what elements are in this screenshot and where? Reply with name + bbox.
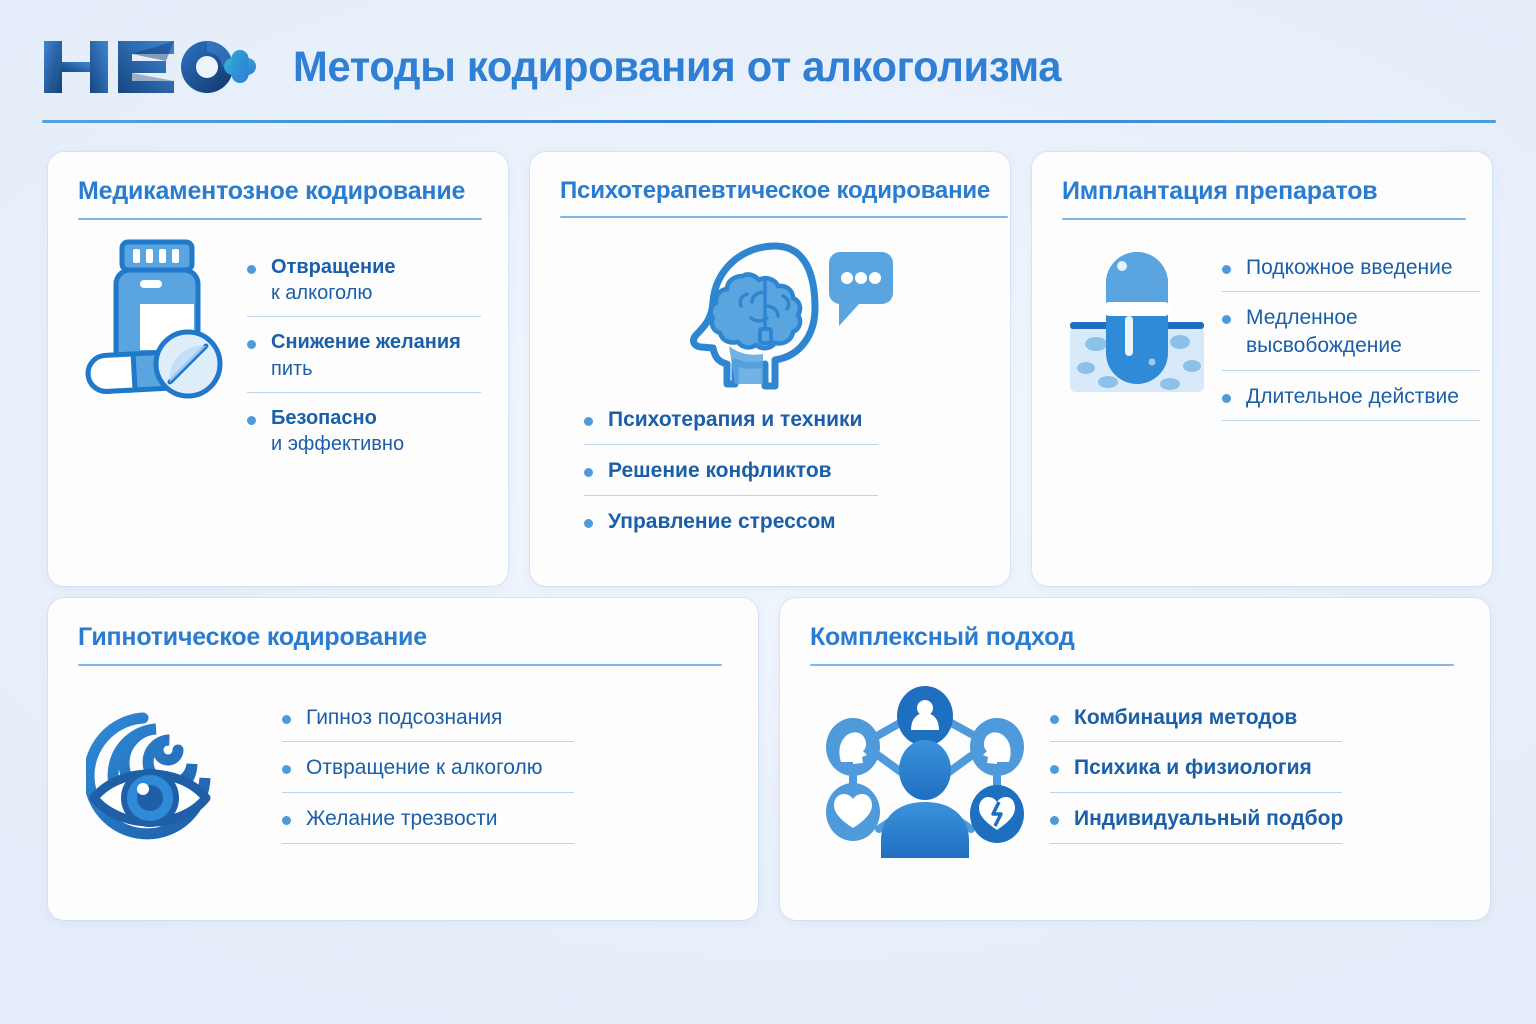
- page-header: Методы кодирования от алкоголизма: [42, 28, 1496, 128]
- bullet-divider: [1050, 792, 1342, 793]
- bullet-divider: [584, 444, 878, 445]
- bullet-item: Снижение желания пить: [247, 329, 482, 382]
- bullet-list: Подкожное введение Медленное высвобожден…: [1222, 254, 1480, 422]
- bullet-line-1: Медленное: [1246, 304, 1480, 332]
- neo-plus-logo: [42, 37, 257, 97]
- bullet-line-1: Отвращение: [271, 254, 482, 280]
- card-title: Комплексный подход: [810, 624, 1464, 652]
- bullet-item: Гипноз подсознания: [282, 704, 732, 732]
- bullet-divider: [584, 495, 878, 496]
- cards-row-bottom: Гипнотическое кодирование: [48, 598, 1490, 920]
- bullet-item: Индивидуальный подбор: [1050, 805, 1464, 833]
- bullet-line-1: Безопасно: [271, 405, 482, 431]
- bullet-item: Длительное действие: [1222, 383, 1480, 411]
- pill-bottle-icon: [78, 236, 233, 458]
- card-implantaciya[interactable]: Имплантация препаратов: [1032, 152, 1492, 586]
- bullet-item: Управление стрессом: [584, 508, 984, 536]
- card-title-divider: [1062, 218, 1466, 220]
- bullet-dot-icon: [584, 468, 593, 477]
- bullet-divider: [1050, 843, 1342, 844]
- bullet-item: Решение конфликтов: [584, 457, 984, 485]
- card-title: Медикаментозное кодирование: [78, 178, 482, 206]
- bullet-line-2: к алкоголю: [271, 280, 482, 306]
- bullet-item: Безопасно и эффективно: [247, 405, 482, 458]
- infographic-page: Методы кодирования от алкоголизма Медика…: [0, 0, 1536, 1024]
- bullet-divider: [282, 843, 574, 844]
- bullet-dot-icon: [1222, 315, 1231, 324]
- bullet-line-1: Длительное действие: [1246, 383, 1480, 411]
- bullet-dot-icon: [1050, 765, 1059, 774]
- bullet-line-1: Гипноз подсознания: [306, 704, 732, 732]
- bullet-line-1: Комбинация методов: [1074, 704, 1464, 732]
- bullet-item: Комбинация методов: [1050, 704, 1464, 732]
- bullet-dot-icon: [584, 519, 593, 528]
- bullet-line-1: Отвращение к алкоголю: [306, 754, 732, 782]
- card-title-divider: [810, 664, 1454, 666]
- bullet-line-2: высвобождение: [1246, 332, 1480, 360]
- bullet-line-1: Управление стрессом: [608, 508, 984, 536]
- head-brain-speech-icon: [647, 234, 897, 394]
- people-network-icon: [810, 682, 1040, 859]
- card-kompleksnyy[interactable]: Комплексный подход: [780, 598, 1490, 920]
- bullet-dot-icon: [1222, 265, 1231, 274]
- bullet-item: Психика и физиология: [1050, 754, 1464, 782]
- bullet-line-1: Психика и физиология: [1074, 754, 1464, 782]
- bullet-item: Психотерапия и техники: [584, 406, 984, 434]
- bullet-line-1: Психотерапия и техники: [608, 406, 984, 434]
- bullet-line-1: Индивидуальный подбор: [1074, 805, 1464, 833]
- card-medikamentoznoe[interactable]: Медикаментозное кодирование: [48, 152, 508, 586]
- page-title: Методы кодирования от алкоголизма: [293, 43, 1061, 92]
- bullet-list: Гипноз подсознания Отвращение к алкоголю…: [282, 704, 732, 853]
- capsule-implant-icon: [1062, 236, 1212, 422]
- card-gipnoticheskoe[interactable]: Гипнотическое кодирование: [48, 598, 758, 920]
- bullet-item: Медленное высвобождение: [1222, 304, 1480, 359]
- bullet-line-1: Подкожное введение: [1246, 254, 1480, 282]
- bullet-dot-icon: [1050, 715, 1059, 724]
- card-title: Имплантация препаратов: [1062, 178, 1466, 206]
- bullet-divider: [282, 741, 574, 742]
- bullet-dot-icon: [584, 417, 593, 426]
- hypnosis-eye-spiral-icon: [78, 682, 268, 853]
- bullet-divider: [1222, 370, 1480, 371]
- card-title: Гипнотическое кодирование: [78, 624, 732, 652]
- bullet-dot-icon: [282, 715, 291, 724]
- card-title-divider: [560, 216, 1008, 218]
- bullet-dot-icon: [1050, 816, 1059, 825]
- bullet-divider: [1222, 420, 1480, 421]
- bullet-item: Подкожное введение: [1222, 254, 1480, 282]
- header-divider: [42, 120, 1496, 123]
- bullet-line-1: Решение конфликтов: [608, 457, 984, 485]
- bullet-item: Отвращение к алкоголю: [247, 254, 482, 307]
- bullet-divider: [247, 316, 481, 317]
- bullet-divider: [247, 392, 481, 393]
- bullet-dot-icon: [247, 340, 256, 349]
- bullet-list: Психотерапия и техники Решение конфликто…: [560, 406, 984, 535]
- bullet-divider: [282, 792, 574, 793]
- card-psihoterapevticheskoe[interactable]: Психотерапевтическое кодирование: [530, 152, 1010, 586]
- bullet-list: Отвращение к алкоголю Снижение желания п…: [247, 254, 482, 458]
- bullet-dot-icon: [282, 816, 291, 825]
- bullet-dot-icon: [282, 765, 291, 774]
- bullet-dot-icon: [1222, 394, 1231, 403]
- card-title-divider: [78, 218, 482, 220]
- bullet-line-1: Снижение желания: [271, 329, 482, 355]
- bullet-dot-icon: [247, 416, 256, 425]
- bullet-item: Желание трезвости: [282, 805, 732, 833]
- bullet-item: Отвращение к алкоголю: [282, 754, 732, 782]
- bullet-dot-icon: [247, 265, 256, 274]
- card-title-divider: [78, 664, 722, 666]
- bullet-line-2: и эффективно: [271, 431, 482, 457]
- bullet-line-1: Желание трезвости: [306, 805, 732, 833]
- card-title: Психотерапевтическое кодирование: [560, 178, 984, 204]
- bullet-list: Комбинация методов Психика и физиология …: [1050, 704, 1464, 859]
- bullet-line-2: пить: [271, 356, 482, 382]
- bullet-divider: [1050, 741, 1342, 742]
- bullet-divider: [1222, 291, 1480, 292]
- cards-row-top: Медикаментозное кодирование: [48, 152, 1490, 586]
